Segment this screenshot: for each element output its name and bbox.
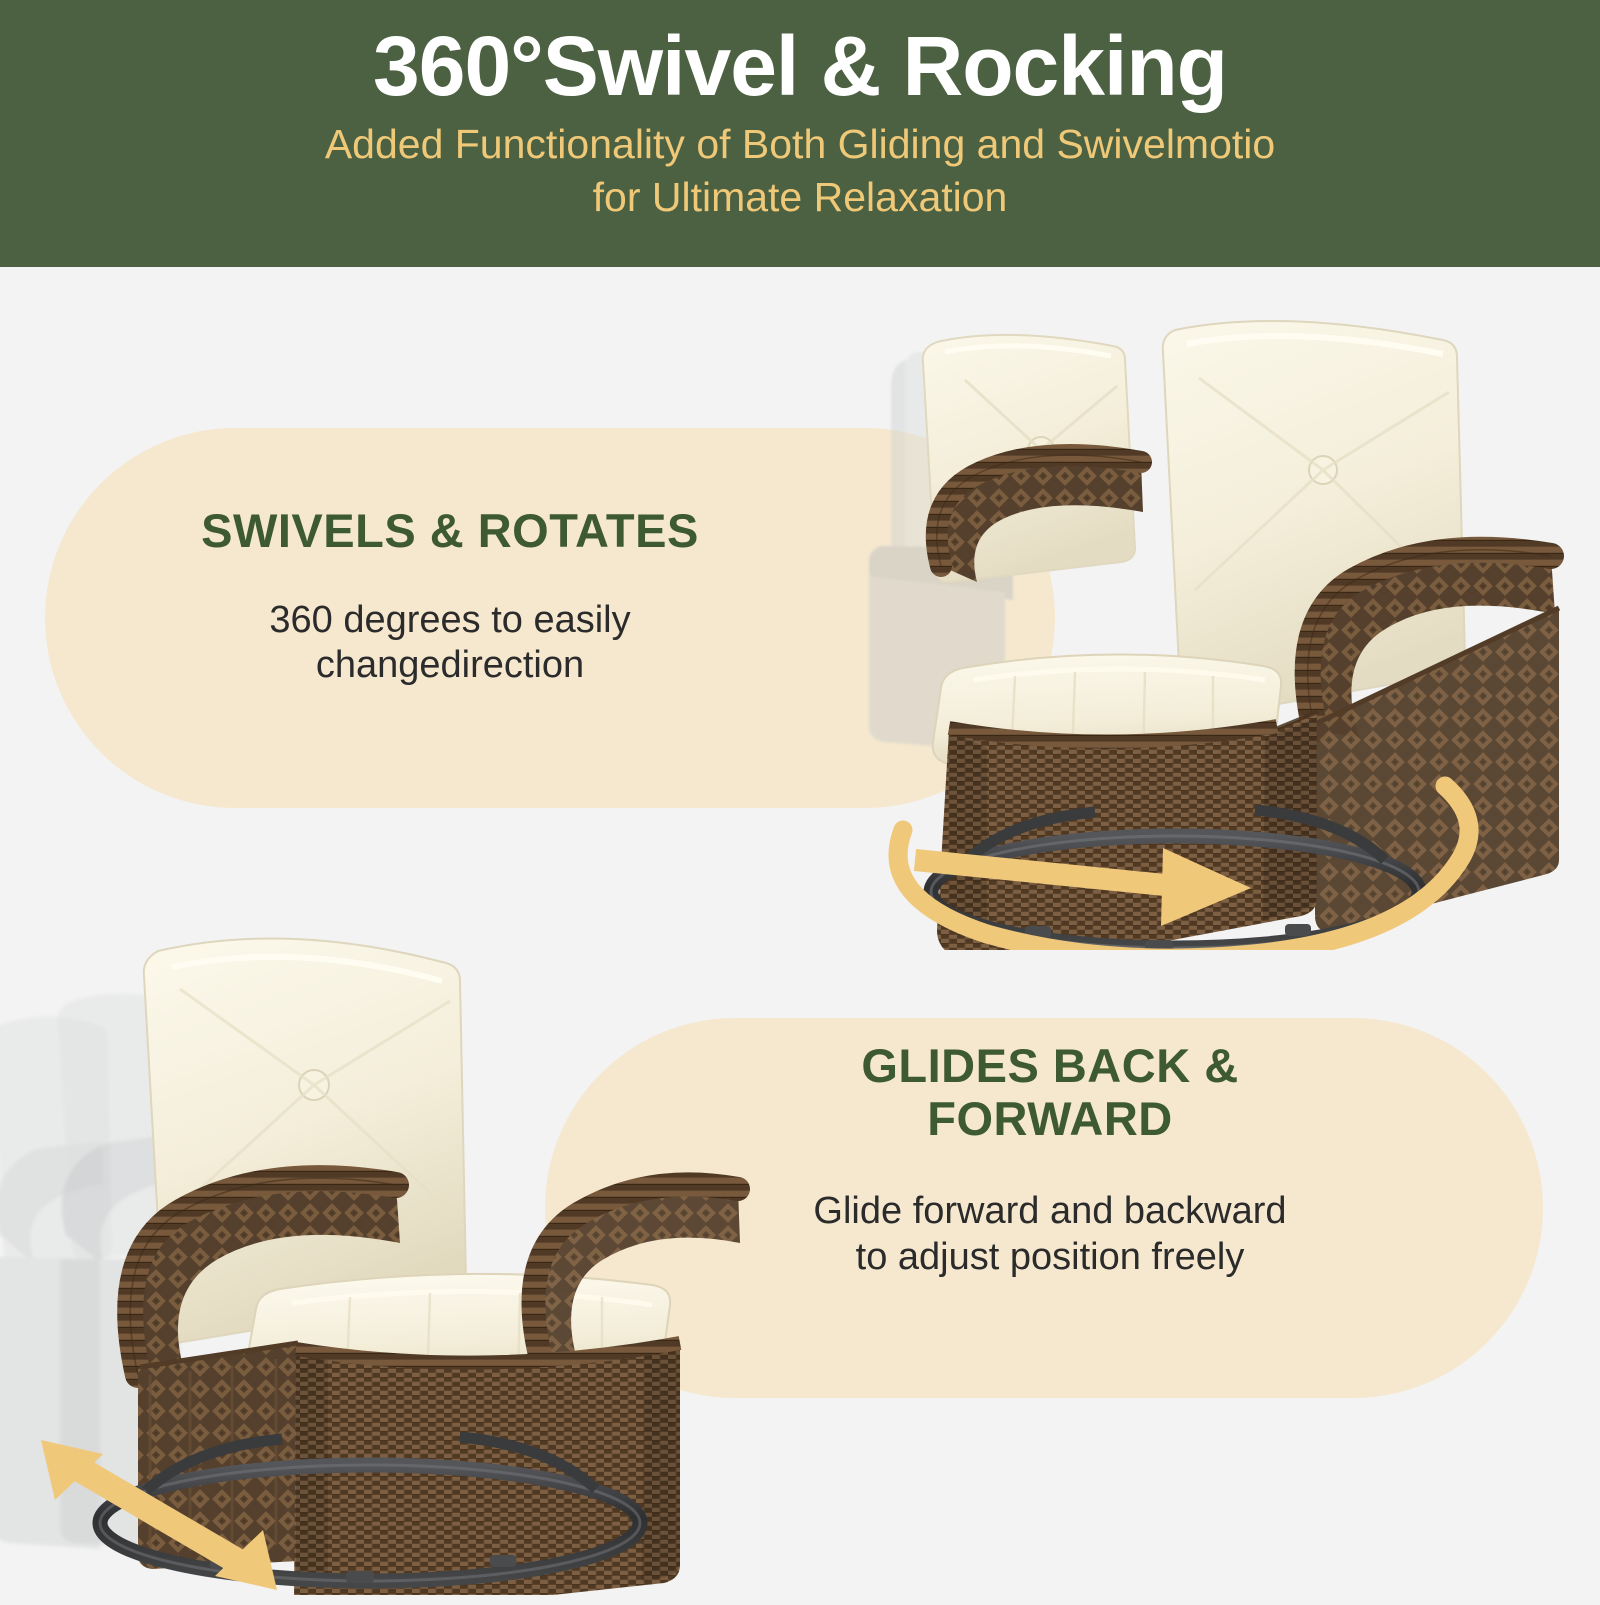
glide-feature-heading: GLIDES BACK & FORWARD — [700, 1040, 1400, 1145]
header-subtitle-line1: Added Functionality of Both Gliding and … — [325, 121, 1275, 167]
swivel-feature-text: SWIVELS & ROTATES 360 degrees to easily … — [120, 505, 780, 689]
glide-feature-heading-line1: GLIDES BACK & — [861, 1039, 1238, 1092]
swivel-feature-body: 360 degrees to easily changedirection — [120, 598, 780, 689]
page-title: 360°Swivel & Rocking — [373, 22, 1227, 110]
glide-feature-body-line1: Glide forward and backward — [813, 1190, 1286, 1232]
glide-feature-body: Glide forward and backward to adjust pos… — [700, 1189, 1400, 1280]
glide-feature-heading-line2: FORWARD — [927, 1092, 1172, 1145]
swivel-feature-heading: SWIVELS & ROTATES — [120, 505, 780, 558]
glide-feature-body-line2: to adjust position freely — [856, 1236, 1245, 1278]
swivel-feature-body-line2: changedirection — [316, 644, 584, 686]
header-subtitle: Added Functionality of Both Gliding and … — [325, 118, 1275, 223]
glide-feature-text: GLIDES BACK & FORWARD Glide forward and … — [700, 1040, 1400, 1280]
header-subtitle-line2: for Ultimate Relaxation — [325, 171, 1275, 223]
glide-chair-illustration — [0, 905, 760, 1595]
header-banner: 360°Swivel & Rocking Added Functionality… — [0, 0, 1600, 267]
swivel-feature-body-line1: 360 degrees to easily — [269, 599, 630, 641]
swivel-chair-illustration — [845, 300, 1565, 950]
